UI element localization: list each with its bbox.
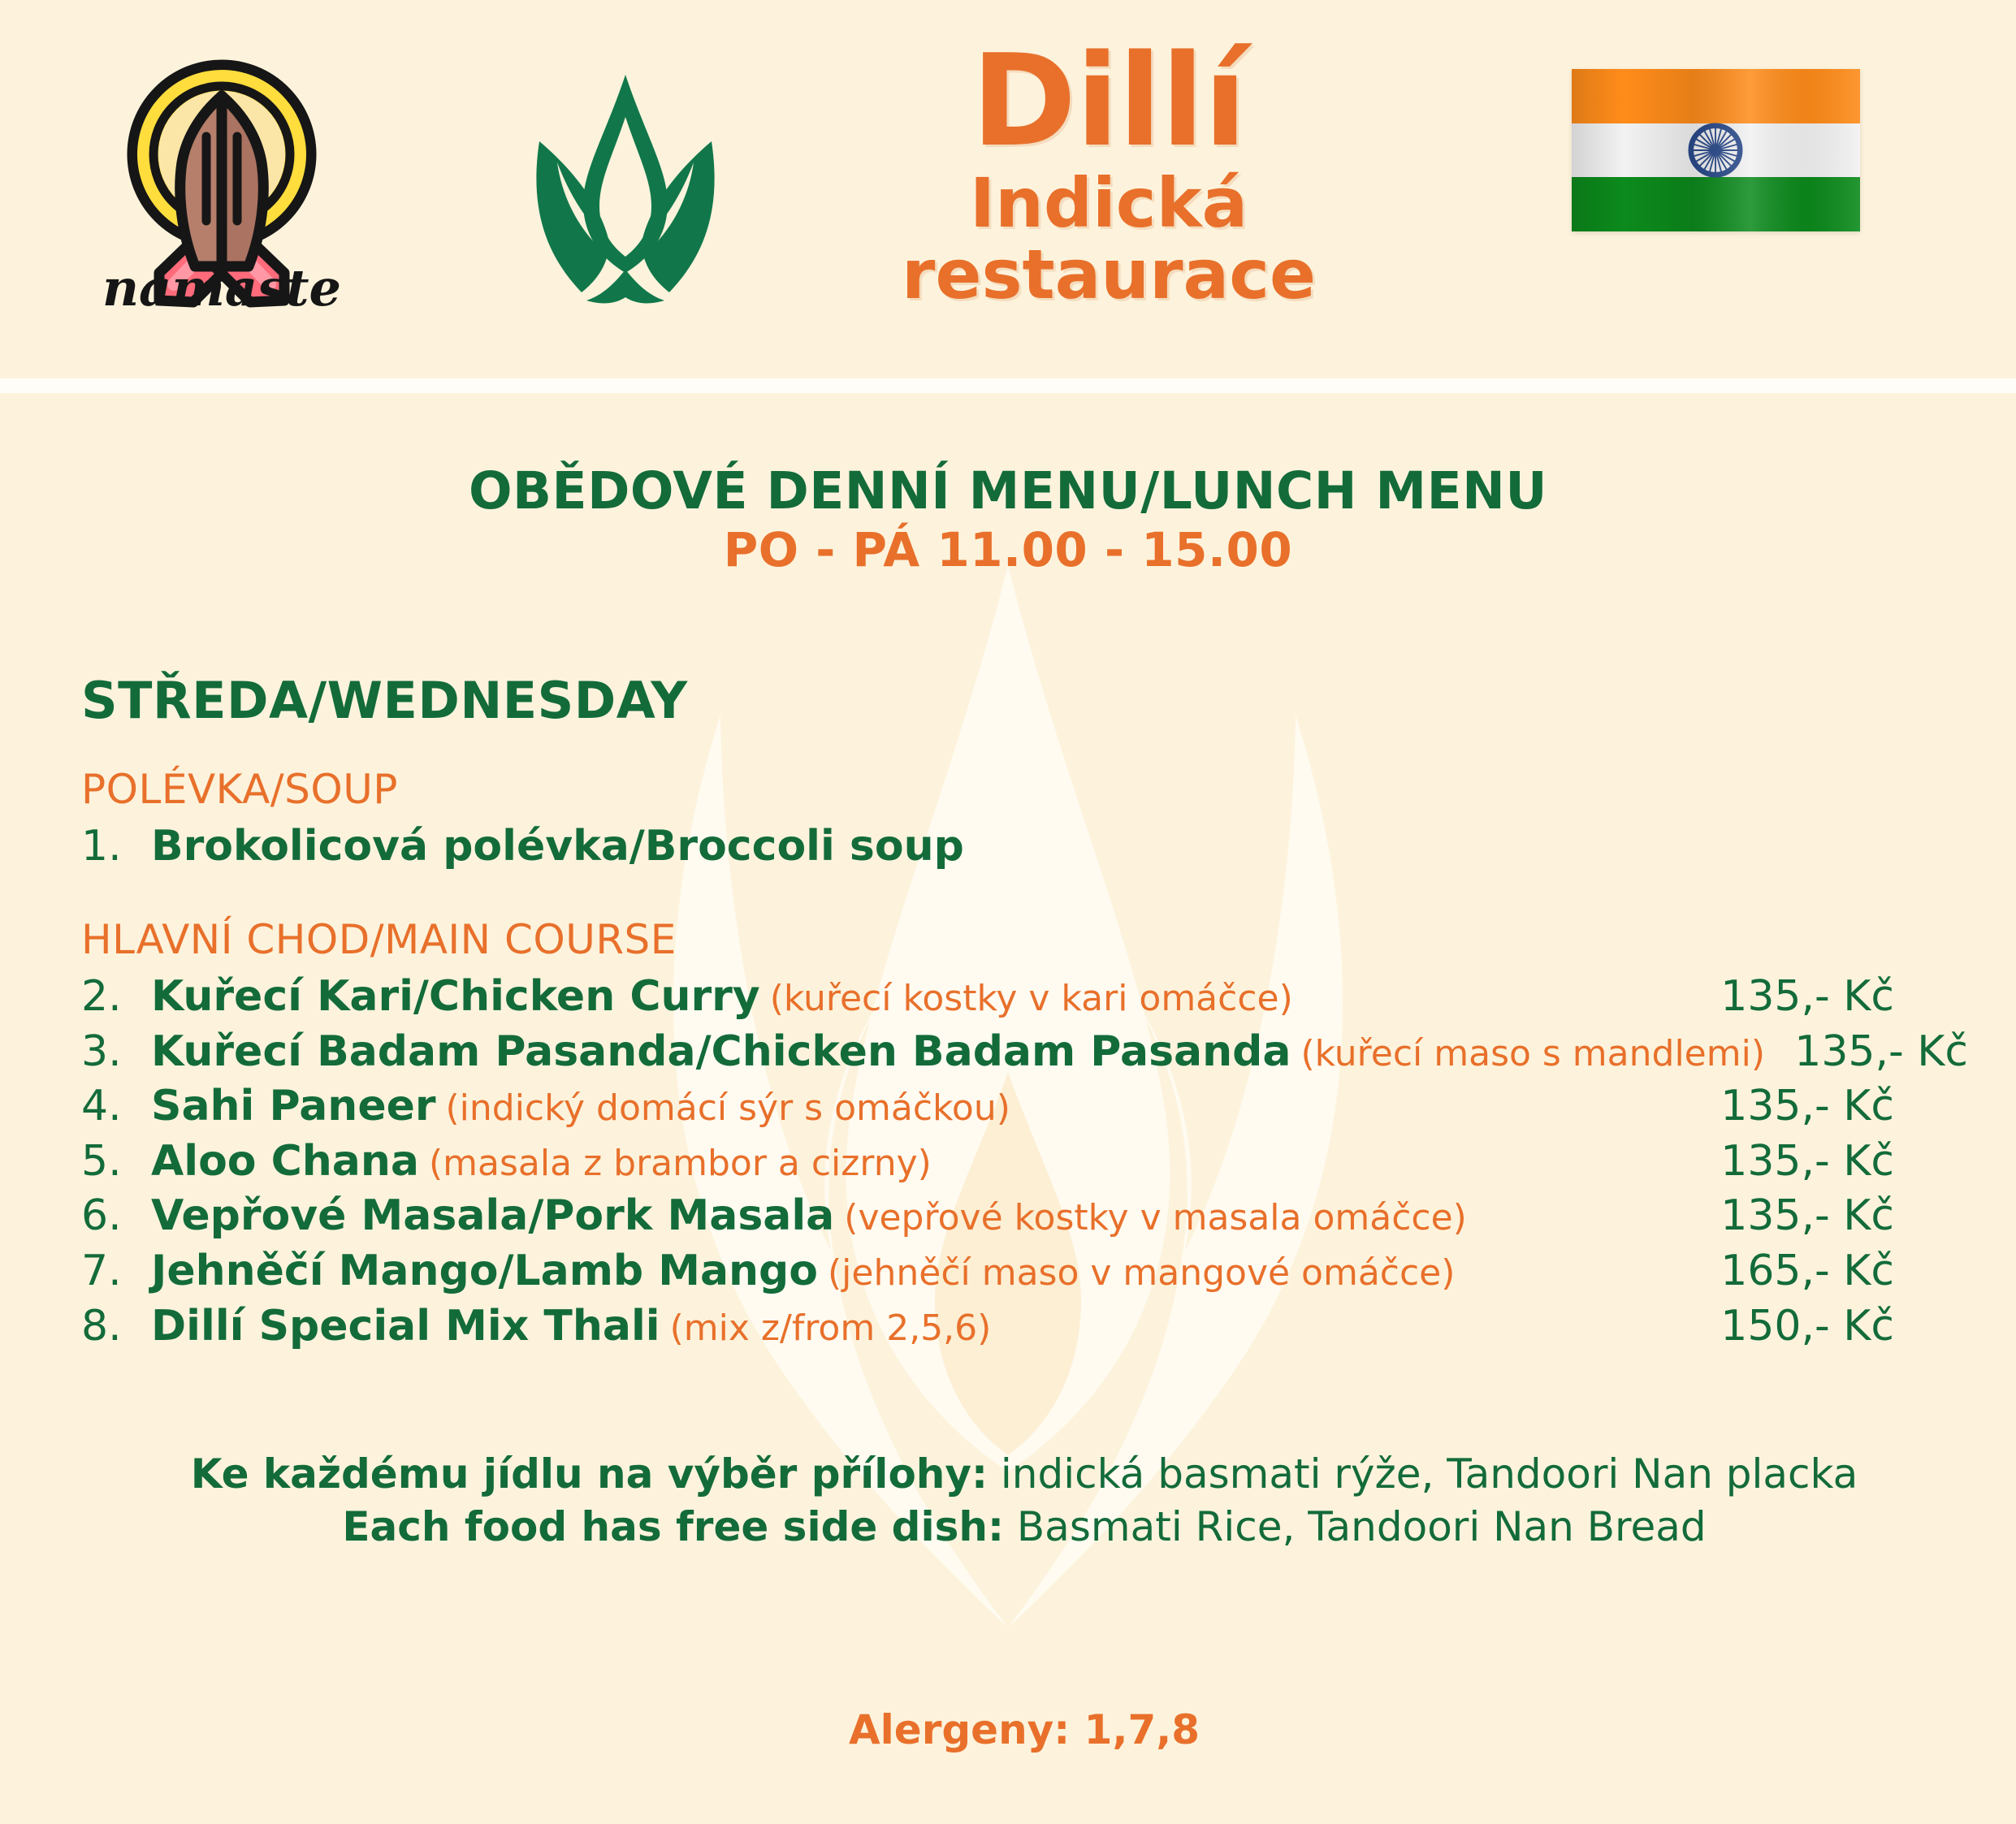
menu-item: 4.Sahi Paneer(indický domácí sýr s omáčk…	[0, 1079, 2016, 1135]
menu-item-name: Kuřecí Badam Pasanda/Chicken Badam Pasan…	[151, 1027, 1291, 1076]
menu-item-number: 5.	[81, 1135, 151, 1190]
menu-item-price: 135,- Kč	[1691, 970, 1894, 1025]
menu-page: namaste Dillí Indická restaur	[0, 0, 2016, 1824]
menu-item-description: (jehněčí maso v mangové omáčce)	[828, 1252, 1455, 1294]
side-dish-note-en-value: Basmati Rice, Tandoori Nan Bread	[1017, 1503, 1707, 1550]
soup-section-label: POLÉVKA/SOUP	[81, 766, 2016, 813]
menu-item-body: Dillí Special Mix Thali(mix z/from 2,5,6…	[151, 1299, 1691, 1355]
menu-item-description: (kuřecí maso s mandlemi)	[1300, 1033, 1765, 1074]
menu-item: 5.Aloo Chana(masala z brambor a cizrny)1…	[0, 1135, 2016, 1190]
menu-item-body: Aloo Chana(masala z brambor a cizrny)	[151, 1135, 1691, 1190]
page-subtitle: Indická restaurace	[755, 167, 1462, 310]
main-section-label: HLAVNÍ CHOD/MAIN COURSE	[81, 916, 2016, 963]
menu-item-number: 4.	[81, 1079, 151, 1135]
menu-item-name: Jehněčí Mango/Lamb Mango	[151, 1247, 818, 1295]
menu-item-description: (masala z brambor a cizrny)	[429, 1143, 932, 1184]
menu-item-price: 135,- Kč	[1691, 1135, 1894, 1190]
menu-item-number: 7.	[81, 1244, 151, 1299]
brand-block: Dillí Indická restaurace	[755, 37, 1462, 310]
menu-item-body: Brokolicová polévka/Broccoli soup	[151, 819, 1691, 875]
namaste-icon: namaste	[96, 32, 348, 309]
menu-item-body: Vepřové Masala/Pork Masala(vepřové kostk…	[151, 1189, 1691, 1244]
side-dish-note-cs-value: indická basmati rýže, Tandoori Nan plack…	[1001, 1450, 1858, 1498]
menu-item-number: 3.	[81, 1025, 151, 1080]
lunch-menu-hours: PO - PÁ 11.00 - 15.00	[0, 524, 2016, 577]
side-dish-note: Ke každému jídlu na výběr přílohy: indic…	[0, 1448, 2016, 1554]
side-dish-note-en: Each food has free side dish: Basmati Ri…	[32, 1501, 2016, 1554]
menu-item: 6.Vepřové Masala/Pork Masala(vepřové kos…	[0, 1189, 2016, 1244]
flame-logo-icon	[512, 63, 739, 307]
menu-item: 8.Dillí Special Mix Thali(mix z/from 2,5…	[0, 1299, 2016, 1355]
menu-item-name: Brokolicová polévka/Broccoli soup	[151, 822, 964, 871]
menu-item-name: Aloo Chana	[151, 1137, 419, 1186]
india-flag-icon	[1572, 69, 1860, 231]
page-title: Dillí	[755, 37, 1462, 164]
menu-item: 1.Brokolicová polévka/Broccoli soup	[0, 819, 2016, 875]
menu-item-number: 2.	[81, 970, 151, 1025]
menu-item-description: (vepřové kostky v masala omáčce)	[844, 1197, 1467, 1238]
main-items-list: 2.Kuřecí Kari/Chicken Curry(kuřecí kostk…	[0, 970, 2016, 1354]
allergens-note: Alergeny: 1,7,8	[0, 1706, 2016, 1753]
menu-item-price: 150,- Kč	[1691, 1299, 1894, 1355]
menu-item-name: Vepřové Masala/Pork Masala	[151, 1191, 834, 1240]
lunch-menu-title: OBĚDOVÉ DENNÍ MENU/LUNCH MENU	[0, 463, 2016, 521]
menu-item-price: 135,- Kč	[1765, 1025, 1968, 1080]
menu-item-body: Kuřecí Badam Pasanda/Chicken Badam Pasan…	[151, 1025, 1765, 1080]
menu-item-number: 1.	[81, 819, 151, 875]
side-dish-note-cs-label: Ke každému jídlu na výběr přílohy:	[191, 1450, 988, 1498]
menu-item: 7.Jehněčí Mango/Lamb Mango(jehněčí maso …	[0, 1244, 2016, 1299]
menu-item-body: Jehněčí Mango/Lamb Mango(jehněčí maso v …	[151, 1244, 1691, 1299]
menu-item-number: 6.	[81, 1189, 151, 1244]
menu-item-number: 8.	[81, 1299, 151, 1355]
side-dish-note-cs: Ke každému jídlu na výběr přílohy: indic…	[32, 1448, 2016, 1501]
menu-item-description: (indický domácí sýr s omáčkou)	[446, 1087, 1010, 1129]
day-heading: STŘEDA/WEDNESDAY	[81, 671, 2016, 730]
namaste-wordmark: namaste	[102, 258, 341, 309]
menu-heading: OBĚDOVÉ DENNÍ MENU/LUNCH MENU PO - PÁ 11…	[0, 463, 2016, 577]
menu-item-body: Sahi Paneer(indický domácí sýr s omáčkou…	[151, 1079, 1691, 1135]
menu-item-price: 135,- Kč	[1691, 1189, 1894, 1244]
menu-item: 2.Kuřecí Kari/Chicken Curry(kuřecí kostk…	[0, 970, 2016, 1025]
menu-item-price: 165,- Kč	[1691, 1244, 1894, 1299]
menu-item-description: (mix z/from 2,5,6)	[670, 1307, 992, 1349]
menu-item-price: 135,- Kč	[1691, 1079, 1894, 1135]
menu-item-name: Sahi Paneer	[151, 1082, 436, 1130]
menu-content: OBĚDOVÉ DENNÍ MENU/LUNCH MENU PO - PÁ 11…	[0, 393, 2016, 1824]
menu-item-name: Kuřecí Kari/Chicken Curry	[151, 972, 760, 1021]
soup-items-list: 1.Brokolicová polévka/Broccoli soup	[0, 819, 2016, 875]
page-header: namaste Dillí Indická restaur	[0, 0, 2016, 378]
menu-item-body: Kuřecí Kari/Chicken Curry(kuřecí kostky …	[151, 970, 1691, 1025]
side-dish-note-en-label: Each food has free side dish:	[342, 1503, 1004, 1550]
header-divider	[0, 378, 2016, 393]
menu-item-description: (kuřecí kostky v kari omáčce)	[770, 978, 1293, 1019]
menu-item: 3.Kuřecí Badam Pasanda/Chicken Badam Pas…	[0, 1025, 2016, 1080]
menu-item-name: Dillí Special Mix Thali	[151, 1302, 660, 1351]
